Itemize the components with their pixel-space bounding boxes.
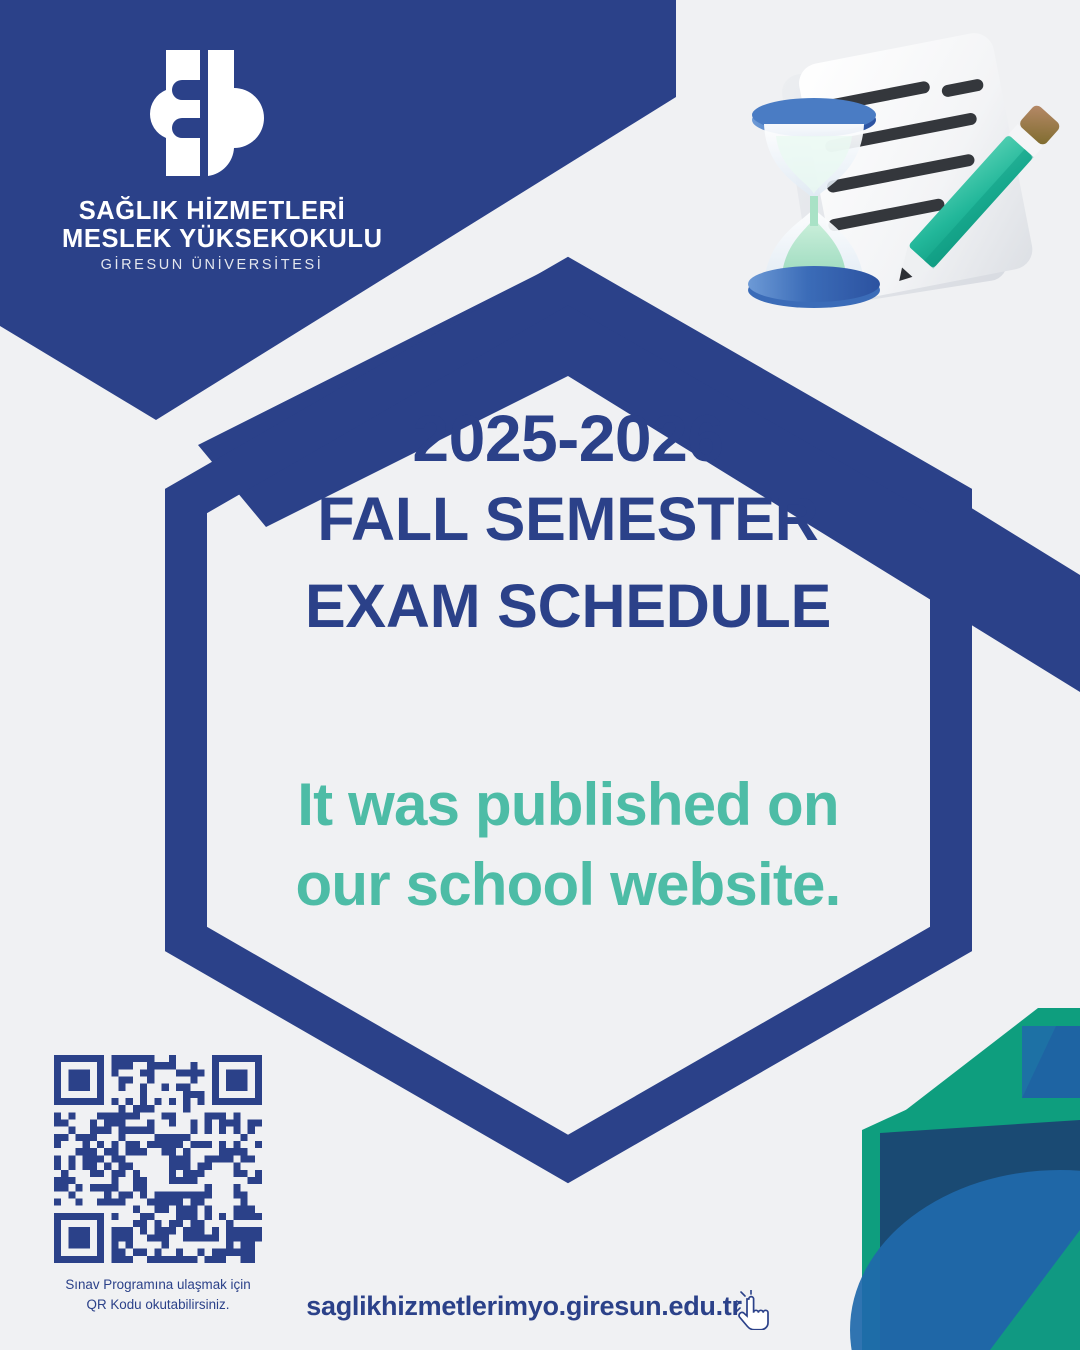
subheadline-line-1: It was published on: [170, 765, 966, 845]
headline-line-2: EXAM SCHEDULE: [190, 563, 946, 650]
shmyo-monogram-icon: [150, 46, 274, 186]
headline-group: 2025-2026 FALL SEMESTER EXAM SCHEDULE: [190, 402, 946, 649]
click-hand-icon: [736, 1290, 774, 1330]
headline-year: 2025-2026: [190, 402, 946, 476]
poster-canvas: SAĞLIK HİZMETLERİ MESLEK YÜKSEKOKULU GİR…: [0, 0, 1080, 1350]
institution-logo: SAĞLIK HİZMETLERİ MESLEK YÜKSEKOKULU GİR…: [62, 46, 362, 273]
logo-line-3: GİRESUN ÜNİVERSİTESİ: [62, 257, 362, 273]
subheadline-line-2: our school website.: [170, 845, 966, 925]
subheadline-group: It was published on our school website.: [170, 765, 966, 925]
document-pencil-hourglass-3d-illustration: [718, 14, 1080, 334]
logo-line-2: MESLEK YÜKSEKOKULU: [62, 226, 362, 254]
qr-block[interactable]: Sınav Programına ulaşmak için QR Kodu ok…: [54, 1055, 262, 1315]
qr-code-icon[interactable]: [54, 1055, 262, 1263]
logo-line-1: SAĞLIK HİZMETLERİ: [62, 198, 362, 226]
headline-line-1: FALL SEMESTER: [190, 476, 946, 563]
website-url-row[interactable]: saglikhizmetlerimyo.giresun.edu.tr: [0, 1282, 1080, 1330]
website-url[interactable]: saglikhizmetlerimyo.giresun.edu.tr: [306, 1291, 741, 1322]
